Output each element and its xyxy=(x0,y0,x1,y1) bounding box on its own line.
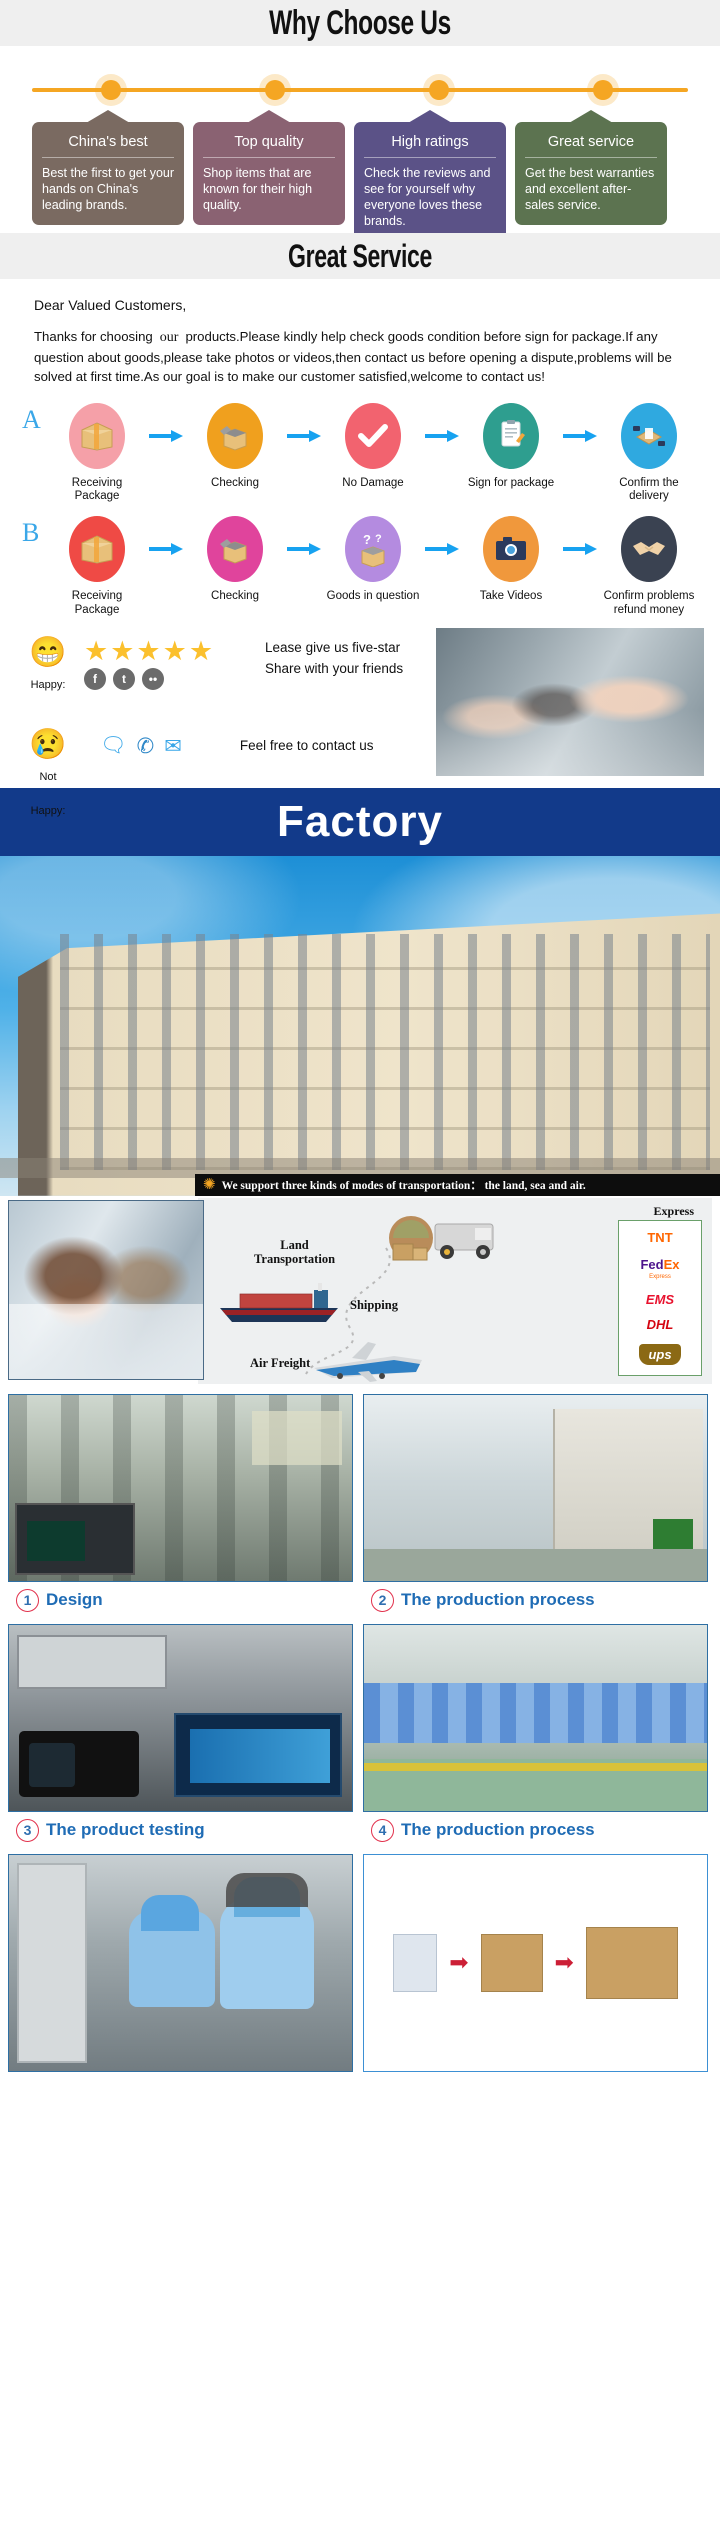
package-icon xyxy=(69,403,125,469)
process-caption-2: 2 The production process xyxy=(363,1582,708,1618)
feature-card-2[interactable]: Top quality Shop items that are known fo… xyxy=(193,122,345,225)
happy-face-icon: 😁 Happy: xyxy=(26,636,70,702)
feature-card-1-title: China's best xyxy=(42,134,174,158)
paragraph-part-1: Thanks for choosing xyxy=(34,329,153,344)
factory-grid-row-3: ➡ ➡ xyxy=(0,1848,720,2072)
great-service-header: Great Service xyxy=(0,233,720,279)
timeline xyxy=(32,74,688,106)
process-label-2: The production process xyxy=(401,1590,595,1610)
air-freight-label: Air Freight xyxy=(250,1356,310,1370)
flow-arrow-icon xyxy=(560,516,600,582)
express-carriers-box: TNT FedEx Express EMS DHL ups xyxy=(618,1220,702,1376)
open-box-icon xyxy=(207,516,263,582)
ups-logo: ups xyxy=(639,1344,680,1365)
product-card-icon xyxy=(393,1934,437,1992)
package-icon-svg xyxy=(80,421,114,451)
why-choose-us-title: Why Choose Us xyxy=(101,0,619,46)
factory-cell-6: ➡ ➡ xyxy=(363,1854,708,2072)
process-caption-1: 1 Design xyxy=(8,1582,353,1618)
flow-b-step-5-label: Confirm problems refund money xyxy=(600,590,698,618)
service-paragraph: Thanks for choosingourproducts.Please ki… xyxy=(34,327,686,387)
process-number-1: 1 xyxy=(16,1589,39,1612)
camera-icon xyxy=(483,516,539,582)
card-notch xyxy=(86,110,130,123)
process-label-4: The production process xyxy=(401,1820,595,1840)
open-box-icon-svg xyxy=(218,421,252,451)
fedex-logo: FedEx Express xyxy=(640,1256,679,1280)
sad-face-icon: 😢 Not Happy: xyxy=(26,728,70,828)
feature-card-3-body: Check the reviews and see for yourself w… xyxy=(364,165,496,229)
flow-row-b: B Receiving Package xyxy=(0,512,720,618)
feature-card-1-body: Best the first to get your hands on Chin… xyxy=(42,165,174,213)
factory-cell-3: 3 The product testing xyxy=(8,1624,353,1848)
process-number-3: 3 xyxy=(16,1819,39,1842)
flow-arrow-icon xyxy=(146,403,186,469)
flow-arrow-icon xyxy=(146,516,186,582)
why-choose-us-section: Why Choose Us China's best Best the firs… xyxy=(0,0,720,233)
product-testing-photo xyxy=(8,1624,353,1812)
flow-b-step-1-label: Receiving Package xyxy=(48,590,146,618)
timeline-dot-1 xyxy=(101,80,121,100)
open-box-icon xyxy=(207,403,263,469)
paragraph-our-word: our xyxy=(153,330,186,345)
not-happy-text: Feel free to contact us xyxy=(240,728,374,757)
great-service-section: Great Service Dear Valued Customers, Tha… xyxy=(0,233,720,788)
feature-card-4[interactable]: Great service Get the best warranties an… xyxy=(515,122,667,225)
not-happy-label: Not Happy: xyxy=(26,760,70,828)
check-icon xyxy=(345,403,401,469)
flow-a-step-4: Sign for package xyxy=(462,403,560,491)
process-number-4: 4 xyxy=(371,1819,394,1842)
twitter-icon[interactable]: t xyxy=(113,668,135,690)
factory-cell-1: 1 Design xyxy=(8,1394,353,1618)
arrow-right-icon: ➡ xyxy=(555,1949,574,1976)
timeline-rail xyxy=(32,88,688,92)
flow-arrow-icon xyxy=(284,516,324,582)
flow-diagrams: A Receiving Package xyxy=(0,387,720,618)
process-caption-3: 3 The product testing xyxy=(8,1812,353,1848)
factory-cell-5 xyxy=(8,1854,353,2072)
handover-icon-svg xyxy=(632,421,666,451)
flow-arrow-icon xyxy=(560,403,600,469)
happy-text: Lease give us five-star Share with your … xyxy=(265,636,403,680)
flow-letter-b: B xyxy=(22,518,39,548)
factory-section: Factory ✺ We support three kinds of mode… xyxy=(0,788,720,2072)
flow-arrow-icon xyxy=(422,403,462,469)
feedback-block: 😁 Happy: ★★★★★ f t •• Lease give us five… xyxy=(0,618,720,788)
factory-grid-row-2: 3 The product testing 4 The production p… xyxy=(0,1618,720,1848)
great-service-body: Dear Valued Customers, Thanks for choosi… xyxy=(0,279,720,387)
question-box-icon: ? ? xyxy=(345,516,401,582)
flow-b-step-1: Receiving Package xyxy=(48,516,146,618)
package-icon xyxy=(69,516,125,582)
cargo-ship-icon xyxy=(216,1280,346,1326)
facebook-icon[interactable]: f xyxy=(84,668,106,690)
timeline-dot-2 xyxy=(265,80,285,100)
flow-a-step-2: Checking xyxy=(186,403,284,491)
flow-b-step-2-label: Checking xyxy=(186,590,284,604)
more-icon[interactable]: •• xyxy=(142,668,164,690)
flow-arrow-icon xyxy=(284,403,324,469)
process-label-1: Design xyxy=(46,1590,103,1610)
email-icon[interactable]: ✉ xyxy=(164,734,182,759)
customer-service-photo xyxy=(436,628,704,776)
chat-icon[interactable]: 🗨 xyxy=(100,734,127,758)
flow-a-step-5: Confirm the delivery xyxy=(600,403,698,505)
check-icon-svg xyxy=(358,424,388,448)
factory-building-photo: ✺ We support three kinds of modes of tra… xyxy=(0,856,720,1196)
process-caption-4: 4 The production process xyxy=(363,1812,708,1848)
tnt-logo: TNT xyxy=(647,1231,672,1244)
happy-line-1: Lease give us five-star xyxy=(265,638,403,659)
flow-b-step-2: Checking xyxy=(186,516,284,604)
happy-label: Happy: xyxy=(26,668,70,702)
factory-cell-4: 4 The production process xyxy=(363,1624,708,1848)
process-number-2: 2 xyxy=(371,1589,394,1612)
flow-a-step-3: No Damage xyxy=(324,403,422,491)
design-photo xyxy=(8,1394,353,1582)
flow-row-a: A Receiving Package xyxy=(0,399,720,505)
transportation-banner: ✺ We support three kinds of modes of tra… xyxy=(195,1174,720,1196)
flow-letter-a: A xyxy=(22,405,41,435)
flow-b-step-4: Take Videos xyxy=(462,516,560,604)
handover-icon xyxy=(621,403,677,469)
feature-card-3[interactable]: High ratings Check the reviews and see f… xyxy=(354,122,506,241)
great-service-title: Great Service xyxy=(101,233,619,279)
card-notch xyxy=(408,110,452,123)
airplane-icon xyxy=(306,1338,436,1382)
process-label-3: The product testing xyxy=(46,1820,205,1840)
flow-a-step-5-label: Confirm the delivery xyxy=(600,477,698,505)
call-center-photo xyxy=(8,1200,204,1380)
flow-b-step-3-label: Goods in question xyxy=(324,590,422,604)
flow-a-step-1-label: Receiving Package xyxy=(48,477,146,505)
feature-card-2-body: Shop items that are known for their high… xyxy=(203,165,335,213)
shipping-label: Shipping xyxy=(350,1298,398,1312)
feature-card-3-title: High ratings xyxy=(364,134,496,158)
handshake-icon xyxy=(621,516,677,582)
factory-cell-2: 2 The production process xyxy=(363,1394,708,1618)
happy-line-2: Share with your friends xyxy=(265,659,403,680)
ems-logo: EMS xyxy=(646,1293,674,1306)
why-choose-us-header: Why Choose Us xyxy=(0,0,720,46)
feature-cards: China's best Best the first to get your … xyxy=(0,106,720,241)
assembly-line-photo xyxy=(8,1854,353,2072)
feature-card-1[interactable]: China's best Best the first to get your … xyxy=(32,122,184,225)
production-photo-2 xyxy=(363,1624,708,1812)
pallet-stack-icon xyxy=(586,1927,678,1999)
feature-card-4-body: Get the best warranties and excellent af… xyxy=(525,165,657,213)
flow-b-step-3: ? ? Goods in question xyxy=(324,516,422,604)
card-notch xyxy=(569,110,613,123)
transportation-banner-text: We support three kinds of modes of trans… xyxy=(222,1177,586,1193)
contact-icon-group: 🗨 ✆ ✉ xyxy=(100,728,182,759)
transport-diagram: Express Land Transportation xyxy=(198,1198,712,1384)
flow-b-step-4-label: Take Videos xyxy=(462,590,560,604)
flow-a-step-3-label: No Damage xyxy=(324,477,422,491)
social-buttons: f t •• xyxy=(84,668,215,690)
flow-a-step-2-label: Checking xyxy=(186,477,284,491)
clipboard-sign-icon xyxy=(483,403,539,469)
arrow-right-icon: ➡ xyxy=(449,1949,468,1976)
feature-card-2-title: Top quality xyxy=(203,134,335,158)
dhl-logo: DHL xyxy=(647,1318,674,1331)
feature-card-4-title: Great service xyxy=(525,134,657,158)
flow-a-step-1: Receiving Package xyxy=(48,403,146,505)
production-photo-1 xyxy=(363,1394,708,1582)
rating-and-share: ★★★★★ f t •• xyxy=(84,636,215,690)
packaging-diagram: ➡ ➡ xyxy=(363,1854,708,2072)
factory-grid-row-1: 1 Design 2 The production process xyxy=(0,1388,720,1618)
greeting-text: Dear Valued Customers, xyxy=(34,297,686,313)
card-notch xyxy=(247,110,291,123)
clipboard-icon-svg xyxy=(496,419,526,453)
svg-text:?: ? xyxy=(375,533,382,545)
star-rating[interactable]: ★★★★★ xyxy=(84,636,215,666)
flow-a-step-4-label: Sign for package xyxy=(462,477,560,491)
why-choose-us-body: China's best Best the first to get your … xyxy=(0,46,720,233)
flow-arrow-icon xyxy=(422,516,462,582)
flow-b-step-5: Confirm problems refund money xyxy=(600,516,698,618)
logistics-section: Express Land Transportation xyxy=(0,1196,720,1388)
timeline-dot-3 xyxy=(429,80,449,100)
svg-text:?: ? xyxy=(363,532,371,547)
sun-icon: ✺ xyxy=(203,1177,216,1192)
timeline-dot-4 xyxy=(593,80,613,100)
fedex-sub: Express xyxy=(640,1274,679,1280)
express-title: Express xyxy=(654,1204,694,1219)
phone-icon[interactable]: ✆ xyxy=(137,734,155,759)
single-carton-icon xyxy=(481,1934,543,1992)
